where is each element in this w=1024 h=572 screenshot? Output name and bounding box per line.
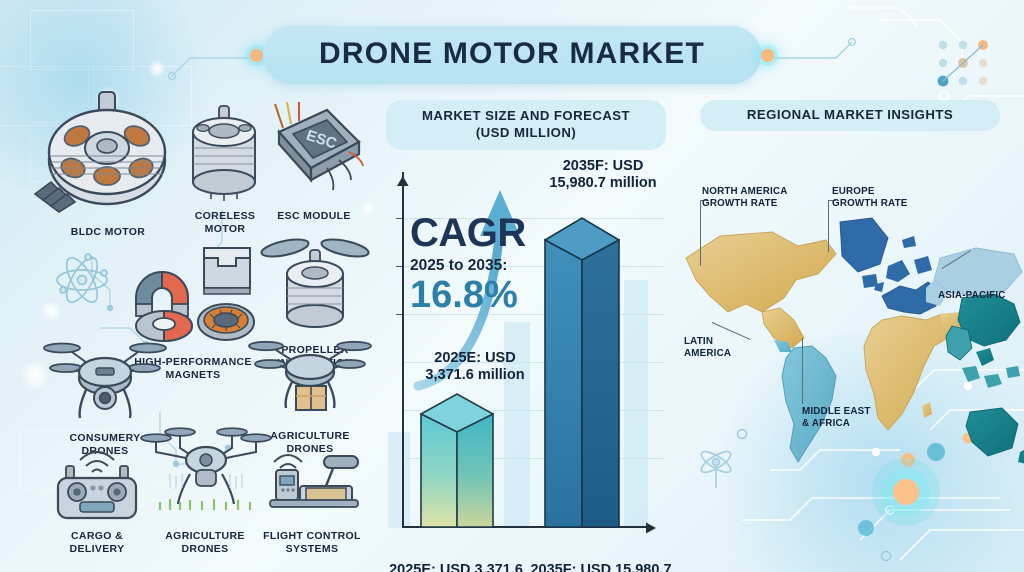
- icon-cell-flight-control: FLIGHT CONTROL SYSTEMS: [252, 440, 372, 556]
- page-title: DRONE MOTOR MARKET: [319, 37, 705, 71]
- ground-station-icon: [256, 440, 368, 522]
- cagr-value: 16.8%: [410, 276, 560, 315]
- icon-label: FLIGHT CONTROL SYSTEMS: [252, 530, 372, 556]
- icon-cell-bldc-motor: BLDC MOTOR: [28, 90, 188, 239]
- accent-dot-right: [761, 49, 774, 62]
- region-label-europe: EUROPE GROWTH RATE: [832, 186, 908, 210]
- chart-plot-area: CAGR 2025 to 2035: 16.8% 2025E: USD 3,37…: [388, 162, 664, 550]
- icon-cell-cargo-delivery: CARGO & DELIVERY: [38, 440, 156, 556]
- callout-2025e: 2025E: USD 3,371.6 million: [414, 350, 536, 385]
- chart-heading-line2: (USD MILLION): [400, 124, 652, 141]
- icon-label: CARGO & DELIVERY: [38, 530, 156, 556]
- callout-2035f: 2035F: USD 15,980.7 million: [538, 158, 668, 193]
- region-label-latin-america: LATIN AMERICA: [684, 336, 731, 360]
- x-axis-label-2025e: 2025E: USD 3,371.6 million: [386, 562, 526, 572]
- region-label-north-america: NORTH AMERICA GROWTH RATE: [702, 186, 788, 210]
- region-label-middle-east-africa: MIDDLE EAST & AFRICA: [802, 406, 871, 430]
- product-icon-panel: BLDC MOTOR CORELESS MOTOR: [0, 92, 372, 562]
- page-title-bar: DRONE MOTOR MARKET: [0, 26, 1024, 84]
- leader-line: [700, 200, 701, 266]
- icon-cell-esc-module: ESC ESC MODULE: [258, 98, 370, 223]
- icon-label: ESC MODULE: [258, 210, 370, 223]
- title-pill: DRONE MOTOR MARKET: [263, 26, 761, 84]
- consumer-drone-icon: [42, 334, 168, 424]
- esc-module-icon: ESC: [261, 98, 367, 202]
- delivery-drone-icon: [248, 332, 372, 422]
- leader-line: [828, 200, 829, 252]
- map-heading: REGIONAL MARKET INSIGHTS: [700, 100, 1000, 131]
- x-axis-label-2035f: 2035F: USD 15,980.7 million: [528, 562, 674, 572]
- bldc-motor-icon: [33, 90, 183, 218]
- accent-dot-left: [250, 49, 263, 62]
- icon-label: BLDC MOTOR: [28, 226, 188, 239]
- cagr-period: 2025 to 2035:: [410, 257, 560, 275]
- cagr-title: CAGR: [410, 214, 560, 252]
- map-heading-text: REGIONAL MARKET INSIGHTS: [714, 107, 986, 122]
- propeller-motor-icon: [259, 232, 371, 336]
- leader-line: [802, 338, 803, 404]
- atom-icon: [52, 250, 112, 310]
- region-label-asia-pacific: ASIA-PACIFIC: [938, 290, 1006, 302]
- chart-heading-line1: MARKET SIZE AND FORECAST: [400, 107, 652, 124]
- magnets-icon: [122, 240, 264, 348]
- regional-insights-panel: REGIONAL MARKET INSIGHTS: [676, 100, 1024, 570]
- cagr-annotation: CAGR 2025 to 2035: 16.8%: [410, 214, 560, 315]
- chart-heading: MARKET SIZE AND FORECAST (USD MILLION): [386, 100, 666, 150]
- remote-controller-icon: [42, 440, 152, 522]
- market-forecast-chart: MARKET SIZE AND FORECAST (USD MILLION): [380, 100, 672, 570]
- bar-2025e: [420, 406, 480, 528]
- icon-cell-agriculture-drones: AGRICULTURE DRONES: [140, 422, 270, 556]
- icon-label: AGRICULTURE DRONES: [140, 530, 270, 556]
